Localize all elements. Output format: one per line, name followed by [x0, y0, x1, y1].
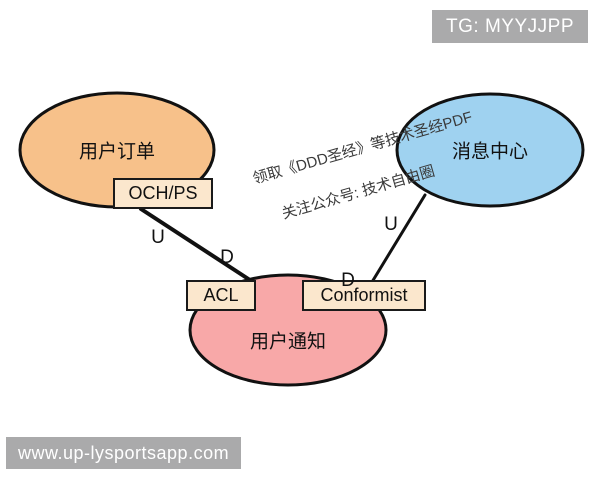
edge-role-upstream-right: U [384, 214, 398, 236]
context-label-user-order: 用户订单 [79, 137, 155, 164]
edge-role-downstream-left: D [220, 247, 234, 269]
relation-box-conformist: Conformist [302, 280, 426, 311]
diagram-canvas [0, 0, 600, 480]
relation-box-och-ps: OCH/PS [113, 178, 213, 209]
watermark-badge-top: TG: MYYJJPP [432, 10, 588, 43]
context-label-message-center: 消息中心 [452, 137, 528, 164]
edge-line-message-to-notify [372, 195, 425, 282]
edge-role-upstream-left: U [151, 227, 165, 249]
context-label-user-notify: 用户通知 [250, 327, 326, 354]
watermark-badge-bottom: www.up-lysportsapp.com [6, 437, 241, 469]
edge-role-downstream-right: D [341, 270, 355, 292]
relation-box-acl: ACL [186, 280, 256, 311]
